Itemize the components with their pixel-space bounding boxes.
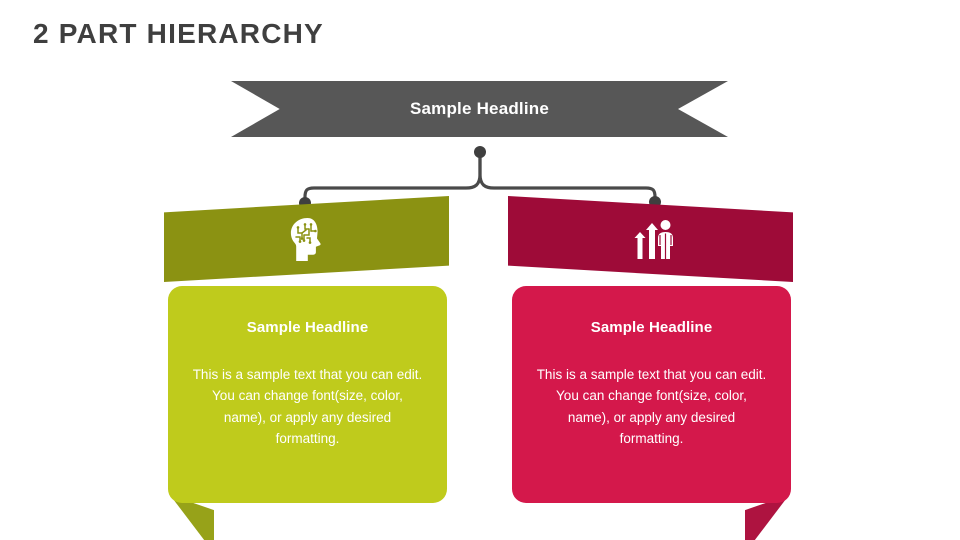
top-banner[interactable]: Sample Headline: [231, 81, 728, 137]
left-card-text: Sample Headline This is a sample text th…: [168, 286, 447, 503]
left-content-card[interactable]: Sample Headline This is a sample text th…: [168, 286, 447, 503]
right-card-text: Sample Headline This is a sample text th…: [512, 286, 791, 503]
page-title: 2 PART HIERARCHY: [33, 18, 324, 50]
right-icon-banner[interactable]: [508, 196, 793, 282]
person-growth-arrows-icon: [624, 214, 678, 266]
right-content-card[interactable]: Sample Headline This is a sample text th…: [512, 286, 791, 503]
connector-root-node-icon: [474, 146, 486, 158]
head-brain-icon: [280, 214, 334, 266]
right-card-headline: Sample Headline: [591, 319, 713, 336]
left-card-headline: Sample Headline: [247, 319, 369, 336]
right-card-paragraph: This is a sample text that you can edit.…: [536, 364, 767, 449]
left-icon-banner[interactable]: [164, 196, 449, 282]
left-card-paragraph: This is a sample text that you can edit.…: [192, 364, 423, 449]
slide-canvas: 2 PART HIERARCHY Sample Headline: [0, 0, 960, 540]
top-banner-headline: Sample Headline: [231, 81, 728, 137]
